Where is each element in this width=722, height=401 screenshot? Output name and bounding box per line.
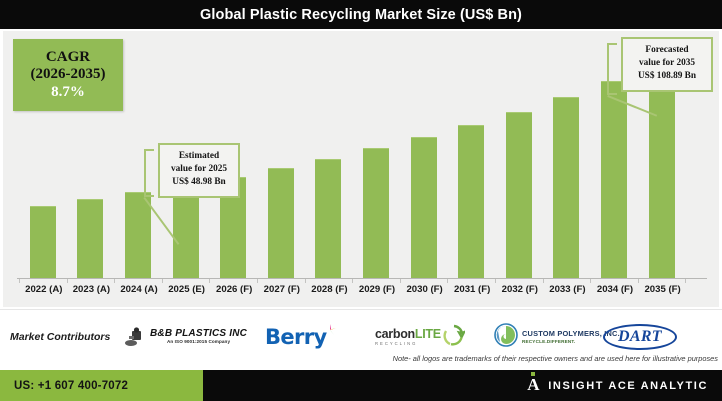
- carbonlite-text: carbonLITE RECYCLING: [375, 328, 441, 346]
- page-title: Global Plastic Recycling Market Size (US…: [200, 7, 522, 23]
- carbonlite-word-carbon: carbon: [375, 327, 415, 341]
- bar-2023A: [77, 199, 103, 278]
- x-label-2034F: 2034 (F): [589, 284, 641, 295]
- logo-dart: DART: [603, 324, 677, 350]
- footer-phone-number[interactable]: US: +1 607 400-7072: [14, 380, 128, 392]
- bar-2028F: [315, 159, 341, 278]
- callout-estimated-2025: Estimated value for 2025 US$ 48.98 Bn: [158, 143, 240, 198]
- bar-2032F: [506, 112, 532, 278]
- market-contributors-label: Market Contributors: [10, 331, 110, 343]
- x-axis-line: [17, 278, 707, 279]
- x-label-2032F: 2032 (F): [494, 284, 546, 295]
- axis-tick: [543, 279, 544, 283]
- dart-wordmark: DART: [618, 328, 662, 345]
- logo-custom-polymers: CUSTOM POLYMERS, INC. RECYCLE.DIFFERENT.: [494, 324, 620, 350]
- axis-tick: [209, 279, 210, 283]
- logo-bb-plastics: B&B PLASTICS INC An ISO 9001:2015 Compan…: [124, 324, 247, 350]
- insightace-logo-dot-icon: [531, 372, 535, 376]
- x-axis-labels: 2022 (A)2023 (A)2024 (A)2025 (E)2026 (F)…: [2, 284, 720, 300]
- axis-tick: [67, 279, 68, 283]
- bar-2024A: [125, 192, 151, 278]
- bb-plastics-tagline: An ISO 9001:2015 Company: [150, 340, 247, 345]
- x-label-2022A: 2022 (A): [18, 284, 70, 295]
- bar-2027F: [268, 168, 294, 278]
- footer-phone-block[interactable]: US: +1 607 400-7072: [0, 370, 203, 401]
- axis-tick: [162, 279, 163, 283]
- callout-bracket-2025: [144, 149, 154, 197]
- axis-tick: [114, 279, 115, 283]
- x-label-2026F: 2026 (F): [208, 284, 260, 295]
- callout-forecasted-2035: Forecasted value for 2035 US$ 108.89 Bn: [621, 37, 713, 92]
- callout-forecasted-line2: value for 2035: [629, 57, 705, 70]
- callout-estimated-line1: Estimated: [166, 150, 232, 163]
- bb-plastics-text: B&B PLASTICS INC An ISO 9001:2015 Compan…: [150, 329, 247, 344]
- berry-star-icon: [324, 323, 336, 341]
- x-label-2025E: 2025 (E): [161, 284, 213, 295]
- x-label-2029F: 2029 (F): [351, 284, 403, 295]
- x-label-2028F: 2028 (F): [303, 284, 355, 295]
- bar-2030F: [411, 137, 437, 278]
- bar-2031F: [458, 125, 484, 278]
- bar-2025E: [173, 185, 199, 278]
- berry-wordmark: Berry: [265, 325, 327, 349]
- bb-plastics-mark-icon: [124, 327, 146, 347]
- logo-berry: Berry: [265, 324, 336, 350]
- bar-2029F: [363, 148, 389, 278]
- x-label-2033F: 2033 (F): [541, 284, 593, 295]
- callout-bracket-2035: [607, 43, 617, 95]
- carbonlite-word-lite: LITE: [415, 327, 441, 341]
- axis-tick: [590, 279, 591, 283]
- x-label-2035F: 2035 (F): [637, 284, 689, 295]
- axis-tick: [638, 279, 639, 283]
- axis-tick: [685, 279, 686, 283]
- bar-2022A: [30, 206, 56, 278]
- axis-tick: [305, 279, 306, 283]
- axis-tick: [400, 279, 401, 283]
- insightace-logo-letter: A: [527, 375, 539, 394]
- insightace-brand-name: INSIGHT ACE ANALYTIC: [548, 380, 708, 392]
- axis-tick: [257, 279, 258, 283]
- title-bar: Global Plastic Recycling Market Size (US…: [0, 0, 722, 29]
- chart-panel: CAGR (2026-2035) 8.7% Estimated value fo…: [2, 30, 720, 308]
- callout-forecasted-line3: US$ 108.89 Bn: [629, 70, 705, 83]
- x-label-2030F: 2030 (F): [399, 284, 451, 295]
- logo-trademark-note: Note- all logos are trademarks of their …: [393, 354, 718, 363]
- recycle-arrows-icon: [443, 324, 465, 351]
- custom-polymers-swirl-icon: [494, 323, 518, 352]
- callout-forecasted-line1: Forecasted: [629, 44, 705, 57]
- logo-carbonlite: carbonLITE RECYCLING: [375, 324, 465, 350]
- bar-2033F: [553, 97, 579, 278]
- axis-tick: [19, 279, 20, 283]
- x-label-2031F: 2031 (F): [446, 284, 498, 295]
- callout-estimated-line3: US$ 48.98 Bn: [166, 176, 232, 189]
- market-contributors-strip: Market Contributors B&B PLASTICS INC An …: [0, 309, 722, 367]
- bar-2034F: [601, 81, 627, 278]
- carbonlite-wordmark: carbonLITE: [375, 328, 441, 341]
- insightace-logo-icon: A: [527, 376, 540, 395]
- footer-brand: A INSIGHT ACE ANALYTIC: [527, 370, 708, 401]
- x-label-2027F: 2027 (F): [256, 284, 308, 295]
- axis-tick: [495, 279, 496, 283]
- bar-2035F: [649, 72, 675, 278]
- callout-estimated-line2: value for 2025: [166, 163, 232, 176]
- carbonlite-tagline: RECYCLING: [375, 342, 441, 346]
- footer-bar: US: +1 607 400-7072 A INSIGHT ACE ANALYT…: [0, 370, 722, 401]
- dart-oval-icon: DART: [603, 324, 677, 350]
- x-label-2023A: 2023 (A): [65, 284, 117, 295]
- x-label-2024A: 2024 (A): [113, 284, 165, 295]
- axis-tick: [447, 279, 448, 283]
- axis-tick: [352, 279, 353, 283]
